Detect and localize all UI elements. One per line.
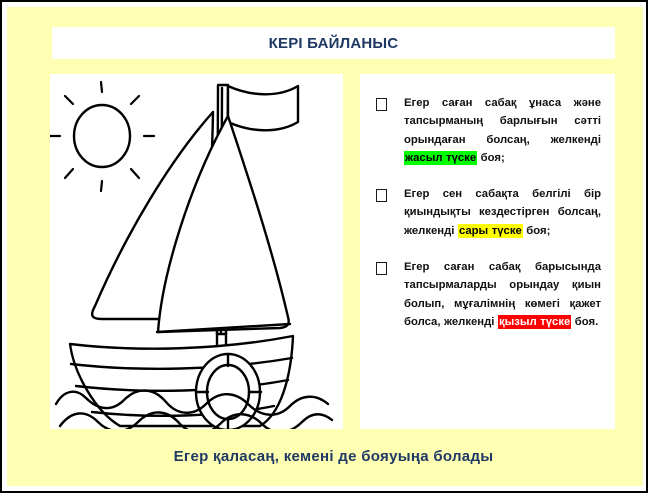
instruction-text-after: боя. (571, 316, 598, 328)
empty-square-checkbox-icon[interactable] (376, 189, 387, 202)
list-item: Егер сен сабақта белгілі бір қиындықты к… (370, 185, 601, 240)
instructions-panel: Егер саған сабақ ұнаса және тапсырманың … (360, 74, 615, 429)
empty-square-checkbox-icon[interactable] (376, 262, 387, 275)
flag-shape (228, 86, 298, 130)
caption-box: Егер қаласаң, кемені де бояуыңа болады (52, 439, 615, 473)
instruction-text-red: Егер саған сабақ барысында тапсырмаларды… (404, 258, 601, 331)
drawing-panel (50, 74, 343, 429)
instruction-text-after: боя; (477, 152, 505, 164)
sailboat-illustration (50, 74, 343, 429)
list-item: Егер саған сабақ ұнаса және тапсырманың … (370, 94, 601, 167)
highlight-yellow: сары түске (458, 224, 523, 238)
list-item: Егер саған сабақ барысында тапсырмаларды… (370, 258, 601, 331)
instruction-text-green: Егер саған сабақ ұнаса және тапсырманың … (404, 94, 601, 167)
empty-square-checkbox-icon[interactable] (376, 98, 387, 111)
instruction-text-after: боя; (523, 225, 551, 237)
slide-root: КЕРІ БАЙЛАНЫС (0, 0, 648, 493)
highlight-green: жасыл түске (404, 151, 477, 165)
sun-icon (50, 82, 154, 191)
instruction-text-before: Егер саған сабақ ұнаса және тапсырманың … (404, 97, 601, 146)
page-title: КЕРІ БАЙЛАНЫС (269, 35, 399, 52)
instruction-text-yellow: Егер сен сабақта белгілі бір қиындықты к… (404, 185, 601, 240)
highlight-red: қызыл түске (498, 315, 571, 329)
title-box: КЕРІ БАЙЛАНЫС (52, 27, 615, 59)
caption-text: Егер қаласаң, кемені де бояуыңа болады (174, 448, 494, 465)
